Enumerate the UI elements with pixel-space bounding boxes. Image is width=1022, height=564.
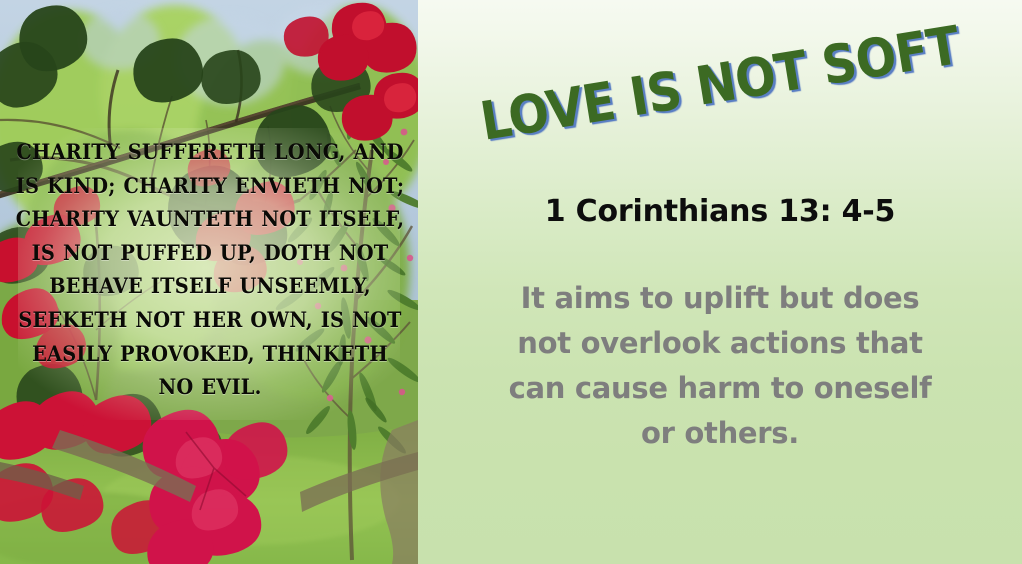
content-panel: LOVE IS NOT SOFT 1 Corinthians 13: 4-5 I… (418, 0, 1022, 564)
body-line: can cause harm to oneself (480, 366, 960, 411)
body-paragraph: It aims to uplift but does not overlook … (480, 276, 960, 456)
body-line: not overlook actions that (480, 321, 960, 366)
body-line: It aims to uplift but does (480, 276, 960, 321)
page-title: LOVE IS NOT SOFT (476, 15, 963, 153)
garden-bougainvillea-photo: Charity suffereth long, and is kind; cha… (0, 0, 418, 564)
body-line: or others. (480, 411, 960, 456)
scripture-quote: Charity suffereth long, and is kind; cha… (12, 136, 408, 405)
slide: Charity suffereth long, and is kind; cha… (0, 0, 1022, 564)
scripture-reference: 1 Corinthians 13: 4-5 (418, 194, 1022, 229)
title-area: LOVE IS NOT SOFT (418, 0, 1022, 150)
